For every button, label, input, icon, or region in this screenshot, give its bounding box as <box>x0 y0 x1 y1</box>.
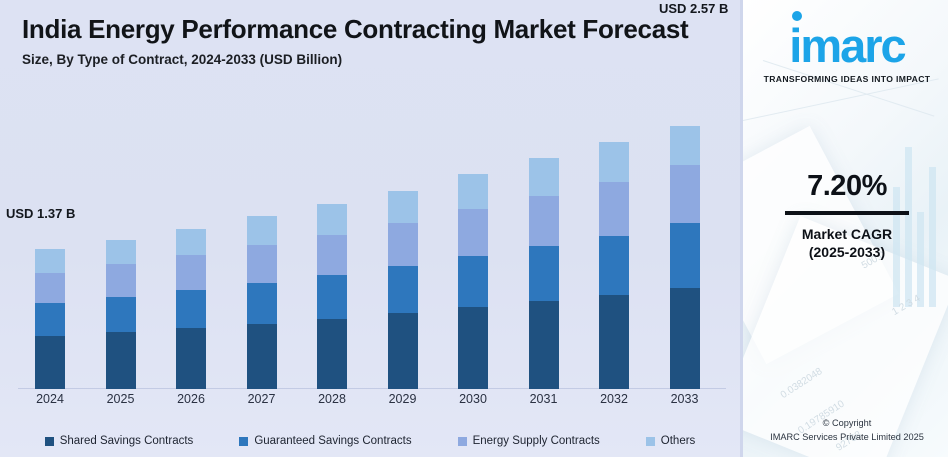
bar-segment <box>35 336 65 389</box>
bar-segment <box>317 319 347 390</box>
brand-logo: imarc TRANSFORMING IDEAS INTO IMPACT <box>743 22 948 84</box>
bar-segment <box>529 158 559 196</box>
bar-segment <box>529 301 559 389</box>
page-subtitle: Size, By Type of Contract, 2024-2033 (US… <box>22 52 712 67</box>
bar-segment <box>529 196 559 246</box>
bar-segment <box>458 256 488 307</box>
bar-segment <box>388 266 418 313</box>
bar-2027 <box>247 216 277 389</box>
copyright-line-1: © Copyright <box>743 417 948 431</box>
bar-segment <box>458 174 488 209</box>
bar-segment <box>529 246 559 301</box>
cagr-block: 7.20% Market CAGR (2025-2033) <box>743 170 948 260</box>
page-title: India Energy Performance Contracting Mar… <box>22 14 712 45</box>
bar-2025 <box>106 240 136 389</box>
x-tick-2027: 2027 <box>240 392 284 406</box>
chart-legend: Shared Savings ContractsGuaranteed Savin… <box>0 435 740 447</box>
bar-2032 <box>599 142 629 389</box>
bar-2031 <box>529 158 559 389</box>
plot-area <box>0 108 740 389</box>
bar-segment <box>388 223 418 266</box>
bar-segment <box>247 324 277 389</box>
bar-segment <box>599 236 629 295</box>
bar-segment <box>317 235 347 275</box>
bar-segment <box>599 295 629 389</box>
x-tick-2024: 2024 <box>28 392 72 406</box>
legend-label: Shared Savings Contracts <box>60 435 194 447</box>
bar-segment <box>599 182 629 236</box>
legend-label: Guaranteed Savings Contracts <box>254 435 411 447</box>
bar-2030 <box>458 174 488 389</box>
x-tick-2028: 2028 <box>310 392 354 406</box>
brand-tagline: TRANSFORMING IDEAS INTO IMPACT <box>743 74 948 84</box>
bar-2026 <box>176 229 206 389</box>
bar-segment <box>35 303 65 336</box>
bar-segment <box>35 249 65 273</box>
bar-segment <box>670 223 700 287</box>
cagr-value: 7.20% <box>743 170 948 203</box>
cagr-label: Market CAGR <box>743 224 948 244</box>
callout-first-value: USD 1.37 B <box>6 206 75 221</box>
bar-segment <box>247 283 277 324</box>
legend-swatch-icon <box>239 437 248 446</box>
bar-segment <box>176 229 206 256</box>
legend-item-0[interactable]: Shared Savings Contracts <box>45 435 194 447</box>
bar-segment <box>176 255 206 290</box>
bar-segment <box>35 273 65 304</box>
title-block: India Energy Performance Contracting Mar… <box>22 14 712 67</box>
bar-segment <box>176 328 206 389</box>
legend-swatch-icon <box>458 437 467 446</box>
bar-2024 <box>35 249 65 389</box>
chart-panel: India Energy Performance Contracting Mar… <box>0 0 740 457</box>
bar-2029 <box>388 191 418 389</box>
imarc-logo-text: imarc <box>789 19 904 72</box>
callout-last-value: USD 2.57 B <box>659 1 728 16</box>
cagr-period: (2025-2033) <box>743 244 948 260</box>
brand-panel: 500.0 1 2 3 4 0.0382048 0.19785910 92768… <box>740 0 948 457</box>
legend-item-1[interactable]: Guaranteed Savings Contracts <box>239 435 411 447</box>
imarc-wordmark: imarc <box>789 22 904 69</box>
bar-segment <box>388 191 418 224</box>
bar-2033 <box>670 126 700 389</box>
bar-segment <box>458 307 488 389</box>
x-tick-2032: 2032 <box>592 392 636 406</box>
bar-2028 <box>317 204 347 389</box>
x-axis: 2024202520262027202820292030203120322033 <box>0 392 740 414</box>
legend-swatch-icon <box>646 437 655 446</box>
bar-segment <box>176 290 206 328</box>
bar-segment <box>670 165 700 223</box>
legend-label: Others <box>661 435 696 447</box>
x-tick-2031: 2031 <box>522 392 566 406</box>
bar-segment <box>106 264 136 297</box>
copyright-block: © Copyright IMARC Services Private Limit… <box>743 417 948 445</box>
legend-swatch-icon <box>45 437 54 446</box>
bar-segment <box>106 240 136 265</box>
chart-infographic: India Energy Performance Contracting Mar… <box>0 0 948 457</box>
bar-segment <box>106 297 136 332</box>
bar-segment <box>247 245 277 283</box>
bar-segment <box>458 209 488 256</box>
bar-segment <box>670 288 700 389</box>
bar-segment <box>247 216 277 245</box>
bar-segment <box>599 142 629 182</box>
bar-segment <box>317 275 347 319</box>
bar-segment <box>388 313 418 389</box>
x-tick-2030: 2030 <box>451 392 495 406</box>
cagr-divider <box>785 211 909 215</box>
x-tick-2033: 2033 <box>663 392 707 406</box>
x-tick-2026: 2026 <box>169 392 213 406</box>
legend-item-3[interactable]: Others <box>646 435 696 447</box>
legend-item-2[interactable]: Energy Supply Contracts <box>458 435 600 447</box>
legend-label: Energy Supply Contracts <box>473 435 600 447</box>
bar-segment <box>670 126 700 165</box>
bar-segment <box>106 332 136 389</box>
x-tick-2029: 2029 <box>381 392 425 406</box>
bar-segment <box>317 204 347 235</box>
copyright-line-2: IMARC Services Private Limited 2025 <box>743 431 948 445</box>
x-tick-2025: 2025 <box>99 392 143 406</box>
